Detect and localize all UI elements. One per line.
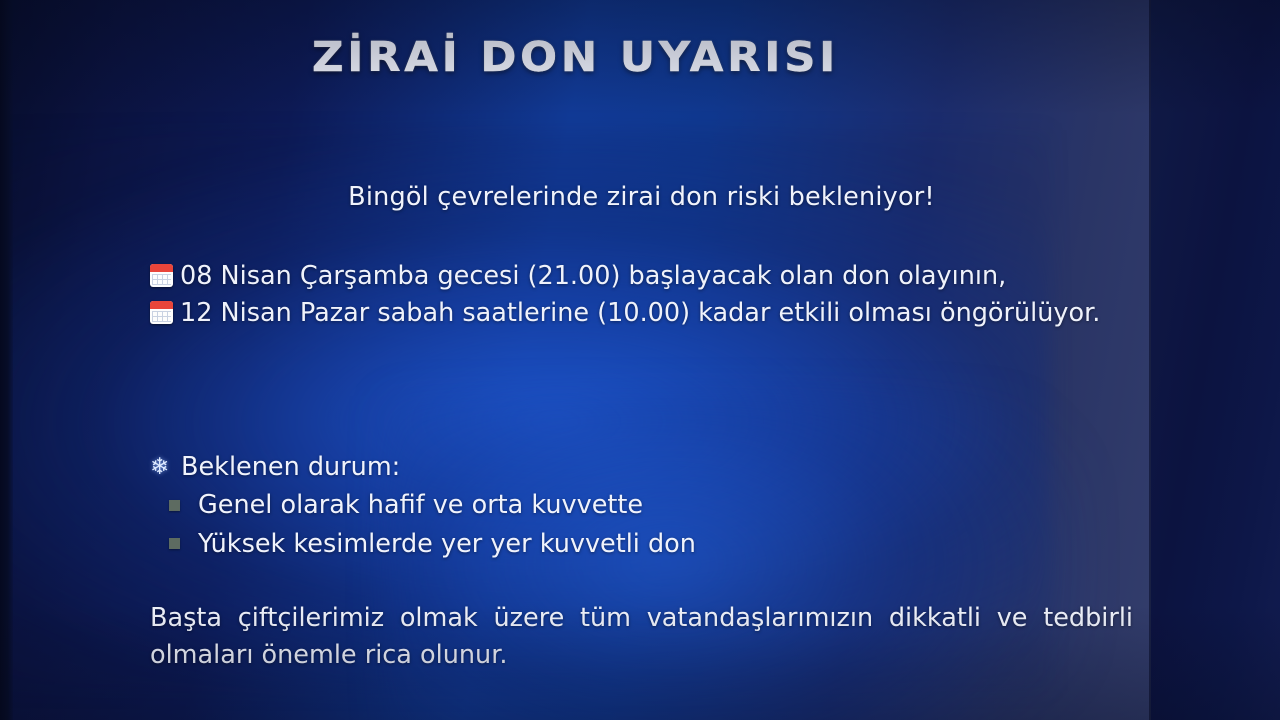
calendar-icon	[150, 264, 173, 287]
date-line-start: 08 Nisan Çarşamba gecesi (21.00) başlaya…	[180, 261, 1006, 291]
list-item-label: Yüksek kesimlerde yer yer kuvvetli don	[198, 525, 696, 564]
list-item: Genel olarak hafif ve orta kuvvette	[150, 486, 1133, 525]
date-details-paragraph: 08 Nisan Çarşamba gecesi (21.00) başlaya…	[150, 258, 1133, 332]
left-edge-band	[0, 0, 13, 720]
calendar-icon	[150, 301, 173, 324]
page-title: ZİRAİ DON UYARISI	[0, 33, 1186, 81]
expected-conditions-list: Genel olarak hafif ve orta kuvvette Yüks…	[150, 486, 1133, 563]
square-bullet-icon	[169, 500, 180, 511]
right-side-panel	[1151, 0, 1280, 720]
list-item: Yüksek kesimlerde yer yer kuvvetli don	[150, 525, 1133, 564]
list-item-label: Genel olarak hafif ve orta kuvvette	[198, 486, 643, 525]
closing-advisory-paragraph: Başta çiftçilerimiz olmak üzere tüm vata…	[150, 600, 1133, 674]
expected-conditions-heading: ❄ Beklenen durum:	[150, 448, 1133, 486]
expected-conditions-section: ❄ Beklenen durum: Genel olarak hafif ve …	[150, 448, 1133, 563]
snowflake-icon: ❄	[150, 456, 176, 479]
zirai-don-uyarisi-poster: ZİRAİ DON UYARISI Bingöl çevrelerinde zi…	[0, 0, 1280, 720]
expected-conditions-label: Beklenen durum:	[181, 448, 400, 486]
date-line-end: 12 Nisan Pazar sabah saatlerine (10.00) …	[180, 298, 1100, 328]
square-bullet-icon	[169, 538, 180, 549]
lead-warning-text: Bingöl çevrelerinde zirai don riski bekl…	[150, 182, 1133, 212]
